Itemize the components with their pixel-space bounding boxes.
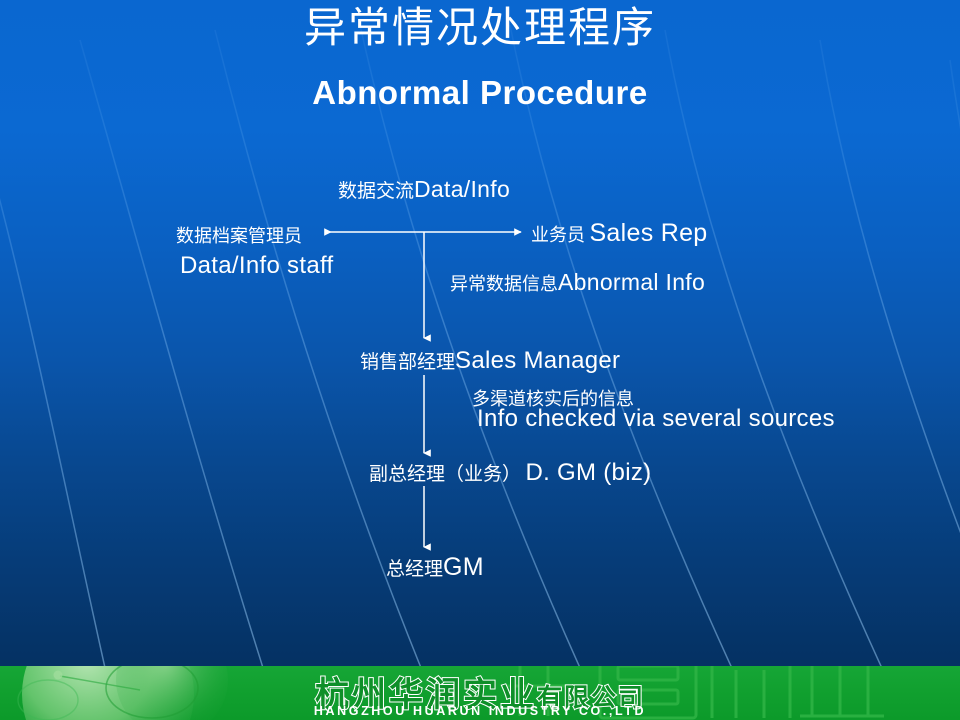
edge-label-abnormal-info-english: Abnormal Info <box>558 269 705 295</box>
node-deputy-gm-biz-english: D. GM (biz) <box>525 459 651 486</box>
presentation-slide: 异常情况处理程序 Abnormal Procedure <box>0 0 960 720</box>
edge-label-data-info: 数据交流Data/Info <box>338 176 510 203</box>
footer-company-name-english: HANGZHOU HUARUN INDUSTRY CO.,LTD <box>0 704 960 718</box>
edge-label-abnormal-info-chinese: 异常数据信息 <box>450 274 558 294</box>
edge-label-data-info-chinese: 数据交流 <box>338 181 414 202</box>
node-general-manager-chinese: 总经理 <box>386 559 443 580</box>
node-sales-rep-chinese: 业务员 <box>531 225 585 245</box>
edge-label-info-checked-english: Info checked via several sources <box>477 405 835 433</box>
node-sales-rep-english: Sales Rep <box>589 219 707 247</box>
edge-label-data-info-english: Data/Info <box>414 176 510 202</box>
node-sales-manager: 销售部经理Sales Manager <box>360 347 620 375</box>
node-sales-rep: 业务员 Sales Rep <box>531 219 708 248</box>
company-footer-banner: 杭州华润实业有限公司 HANGZHOU HUARUN INDUSTRY CO.,… <box>0 666 960 720</box>
node-data-info-staff-english: Data/Info staff <box>180 252 333 280</box>
node-sales-manager-english: Sales Manager <box>455 347 620 374</box>
node-deputy-gm-biz: 副总经理（业务） D. GM (biz) <box>369 459 651 487</box>
slide-title-english: Abnormal Procedure <box>0 74 960 112</box>
node-data-info-staff-chinese: 数据档案管理员 <box>176 222 302 248</box>
slide-title-chinese: 异常情况处理程序 <box>0 8 960 50</box>
node-deputy-gm-biz-chinese: 副总经理（业务） <box>369 464 521 485</box>
node-general-manager-english: GM <box>443 553 484 581</box>
edge-label-abnormal-info: 异常数据信息Abnormal Info <box>450 269 705 296</box>
node-sales-manager-chinese: 销售部经理 <box>360 352 455 373</box>
node-general-manager: 总经理GM <box>386 553 484 582</box>
